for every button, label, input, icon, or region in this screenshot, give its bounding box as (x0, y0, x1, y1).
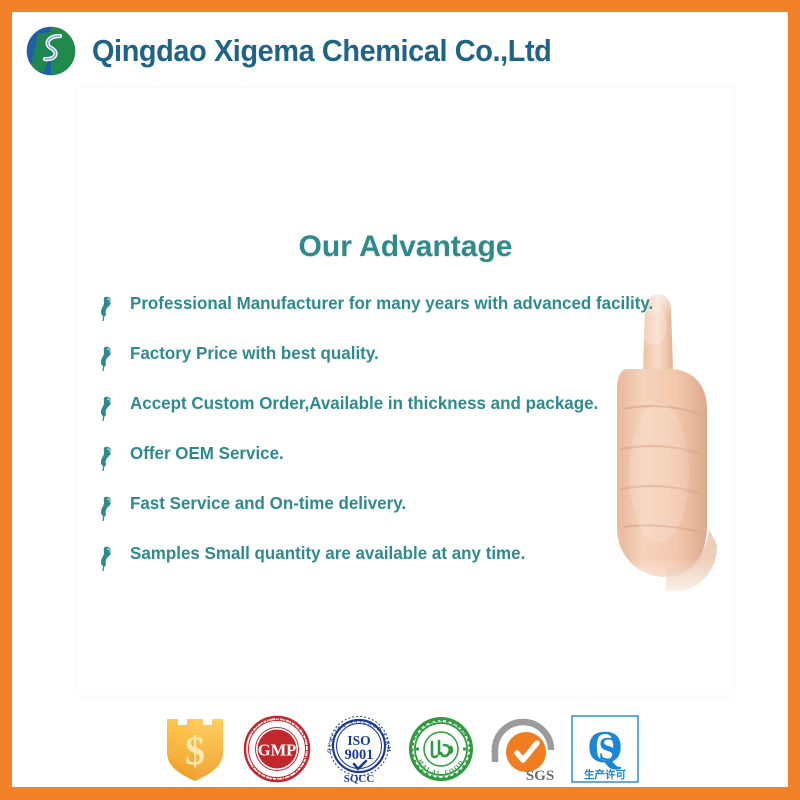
list-item-label: Accept Custom Order,Available in thickne… (130, 393, 598, 414)
list-item-label: Factory Price with best quality. (130, 343, 379, 364)
page-header: Qingdao Xigema Chemical Co.,Ltd (12, 12, 788, 90)
list-item: Professional Manufacturer for many years… (96, 293, 726, 343)
list-item-label: Fast Service and On-time delivery. (130, 493, 406, 514)
list-item: Fast Service and On-time delivery. (96, 493, 726, 543)
svg-text:生产许可: 生产许可 (584, 768, 626, 781)
list-item: Accept Custom Order,Available in thickne… (96, 393, 726, 443)
list-item-label: Offer OEM Service. (130, 443, 284, 464)
pushpin-icon (96, 345, 130, 375)
page-title: Qingdao Xigema Chemical Co.,Ltd (92, 33, 551, 69)
list-item-label: Samples Small quantity are available at … (130, 543, 525, 564)
pushpin-icon (96, 445, 130, 475)
page-canvas: Qingdao Xigema Chemical Co.,Ltd (12, 12, 788, 787)
dollar-sign-icon: $ (185, 728, 205, 773)
pushpin-icon (96, 495, 130, 525)
list-item: Offer OEM Service. (96, 443, 726, 493)
pushpin-icon (96, 545, 130, 575)
svg-text:SQCC: SQCC (344, 773, 375, 785)
list-item: Samples Small quantity are available at … (96, 543, 726, 593)
content-card: Our Advantage Professional Manufacturer … (78, 88, 733, 695)
gmp-badge: GOOD MANUFACTURING PRACTICE GMP (239, 711, 315, 787)
xigema-circle-logo-icon (24, 24, 78, 78)
qs-production-license-badge: Q S 生产许可 (567, 711, 643, 787)
svg-text:SGS: SGS (526, 768, 554, 784)
sgs-iso-9001-badge: ISO 9001 SGS (485, 711, 561, 787)
svg-text:GMP: GMP (258, 740, 297, 759)
pushpin-icon (96, 395, 130, 425)
orange-border-frame: Qingdao Xigema Chemical Co.,Ltd (0, 0, 800, 800)
advantage-list: Professional Manufacturer for many years… (96, 293, 726, 593)
iso-9001-sqcc-badge: QUALITY ASSURED FIRM ISO 9001 SQCC (321, 711, 397, 787)
svg-text:9001: 9001 (345, 747, 374, 763)
halal-food-badge: HALAL FOOD HALAL FOOD (403, 711, 479, 787)
dollar-shield-badge: $ (157, 711, 233, 787)
list-item-label: Professional Manufacturer for many years… (130, 293, 653, 314)
svg-text:S: S (599, 731, 618, 768)
certification-strip: $ GOOD MANUFACTURING PRACTICE (12, 710, 788, 787)
section-heading: Our Advantage (78, 230, 733, 264)
pushpin-icon (96, 295, 130, 325)
list-item: Factory Price with best quality. (96, 343, 726, 393)
svg-text:ISO: ISO (347, 733, 370, 748)
